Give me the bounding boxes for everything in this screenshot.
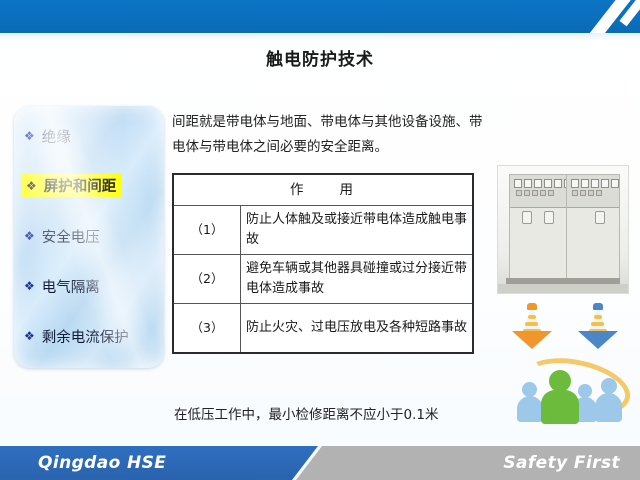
table-header-cell: 作 用 — [173, 174, 473, 206]
knob-icon — [544, 211, 554, 224]
sidebar-item-safe-voltage[interactable]: ❖ 安全电压 — [24, 224, 100, 248]
meter-row — [571, 179, 619, 188]
table-row: （3） 防止火灾、过电压放电及各种短路事故 — [173, 304, 473, 354]
photo-floor — [498, 284, 628, 293]
table-row-index: （1） — [173, 206, 241, 255]
traffic-cone-blue-icon — [575, 305, 621, 355]
sidebar-item-label: 电气隔离 — [42, 276, 100, 297]
indicator-row — [516, 190, 554, 196]
table-row-text: 避免车辆或其他器具碰撞或过分接近带电体造成事故 — [241, 255, 474, 304]
diamond-bullet-icon: ❖ — [24, 230, 35, 242]
footnote-text: 在低压工作中，最小检修距离不应小于0.1米 — [174, 403, 504, 423]
cabinet-right — [566, 174, 620, 280]
cone-icon-group — [503, 305, 633, 357]
table-row-text: 防止火灾、过电压放电及各种短路事故 — [241, 304, 474, 354]
knob-icon — [522, 211, 532, 224]
diamond-bullet-icon: ❖ — [24, 330, 35, 342]
footer-bar: Qingdao HSE Safety First — [0, 446, 640, 480]
footer-brand-label: Qingdao HSE — [38, 453, 166, 473]
lead-paragraph: 间距就是带电体与地面、带电体与其他设备设施、带电体与带电体之间必要的安全距离。 — [172, 110, 492, 160]
meter-row — [514, 179, 572, 188]
footer-slogan-label: Safety First — [503, 453, 620, 473]
header-shadow — [0, 33, 640, 41]
sidebar-list: ❖ 绝缘 ❖ 屏护和间距 ❖ 安全电压 ❖ 电气隔离 ❖ 剩余电流保护 — [14, 106, 164, 368]
sidebar-item-insulation[interactable]: ❖ 绝缘 — [24, 124, 71, 148]
page-title: 触电防护技术 — [0, 45, 640, 70]
slide-canvas: 触电防护技术 ❖ 绝缘 ❖ 屏护和间距 ❖ 安全电压 ❖ 电气隔离 ❖ 剩余电流 — [0, 0, 640, 480]
traffic-cone-orange-icon — [509, 305, 555, 355]
sidebar-panel: ❖ 绝缘 ❖ 屏护和间距 ❖ 安全电压 ❖ 电气隔离 ❖ 剩余电流保护 — [14, 106, 164, 368]
function-table: 作 用 （1） 防止人体触及或接近带电体造成触电事故 （2） 避免车辆或其他器具… — [172, 173, 474, 354]
sidebar-item-label: 屏护和间距 — [44, 175, 117, 196]
diamond-bullet-icon: ❖ — [26, 180, 37, 192]
sidebar-item-label: 剩余电流保护 — [42, 326, 129, 347]
person-blue-right — [595, 378, 622, 422]
person-green-front — [541, 370, 579, 424]
knob-icon — [595, 211, 605, 224]
diamond-bullet-icon: ❖ — [24, 130, 35, 142]
sidebar-item-shielding-and-clearance[interactable]: ❖ 屏护和间距 — [22, 174, 122, 197]
switchgear-cabinet-photo — [497, 165, 629, 294]
sidebar-item-residual-current-protection[interactable]: ❖ 剩余电流保护 — [24, 324, 129, 348]
indicator-row — [572, 190, 602, 196]
diamond-bullet-icon: ❖ — [24, 280, 35, 292]
table-row: （1） 防止人体触及或接近带电体造成触电事故 — [173, 206, 473, 255]
table-header-row: 作 用 — [173, 174, 473, 206]
sidebar-item-label: 安全电压 — [42, 226, 100, 247]
table-row-index: （3） — [173, 304, 241, 354]
table-row: （2） 避免车辆或其他器具碰撞或过分接近带电体造成事故 — [173, 255, 473, 304]
cabinet-left — [509, 174, 567, 280]
table-row-text: 防止人体触及或接近带电体造成触电事故 — [241, 206, 474, 255]
person-blue-left — [517, 382, 543, 422]
table-row-index: （2） — [173, 255, 241, 304]
sidebar-item-label: 绝缘 — [42, 126, 71, 147]
header-band — [0, 0, 640, 33]
people-group-icon — [515, 358, 627, 426]
sidebar-item-electrical-isolation[interactable]: ❖ 电气隔离 — [24, 274, 100, 298]
